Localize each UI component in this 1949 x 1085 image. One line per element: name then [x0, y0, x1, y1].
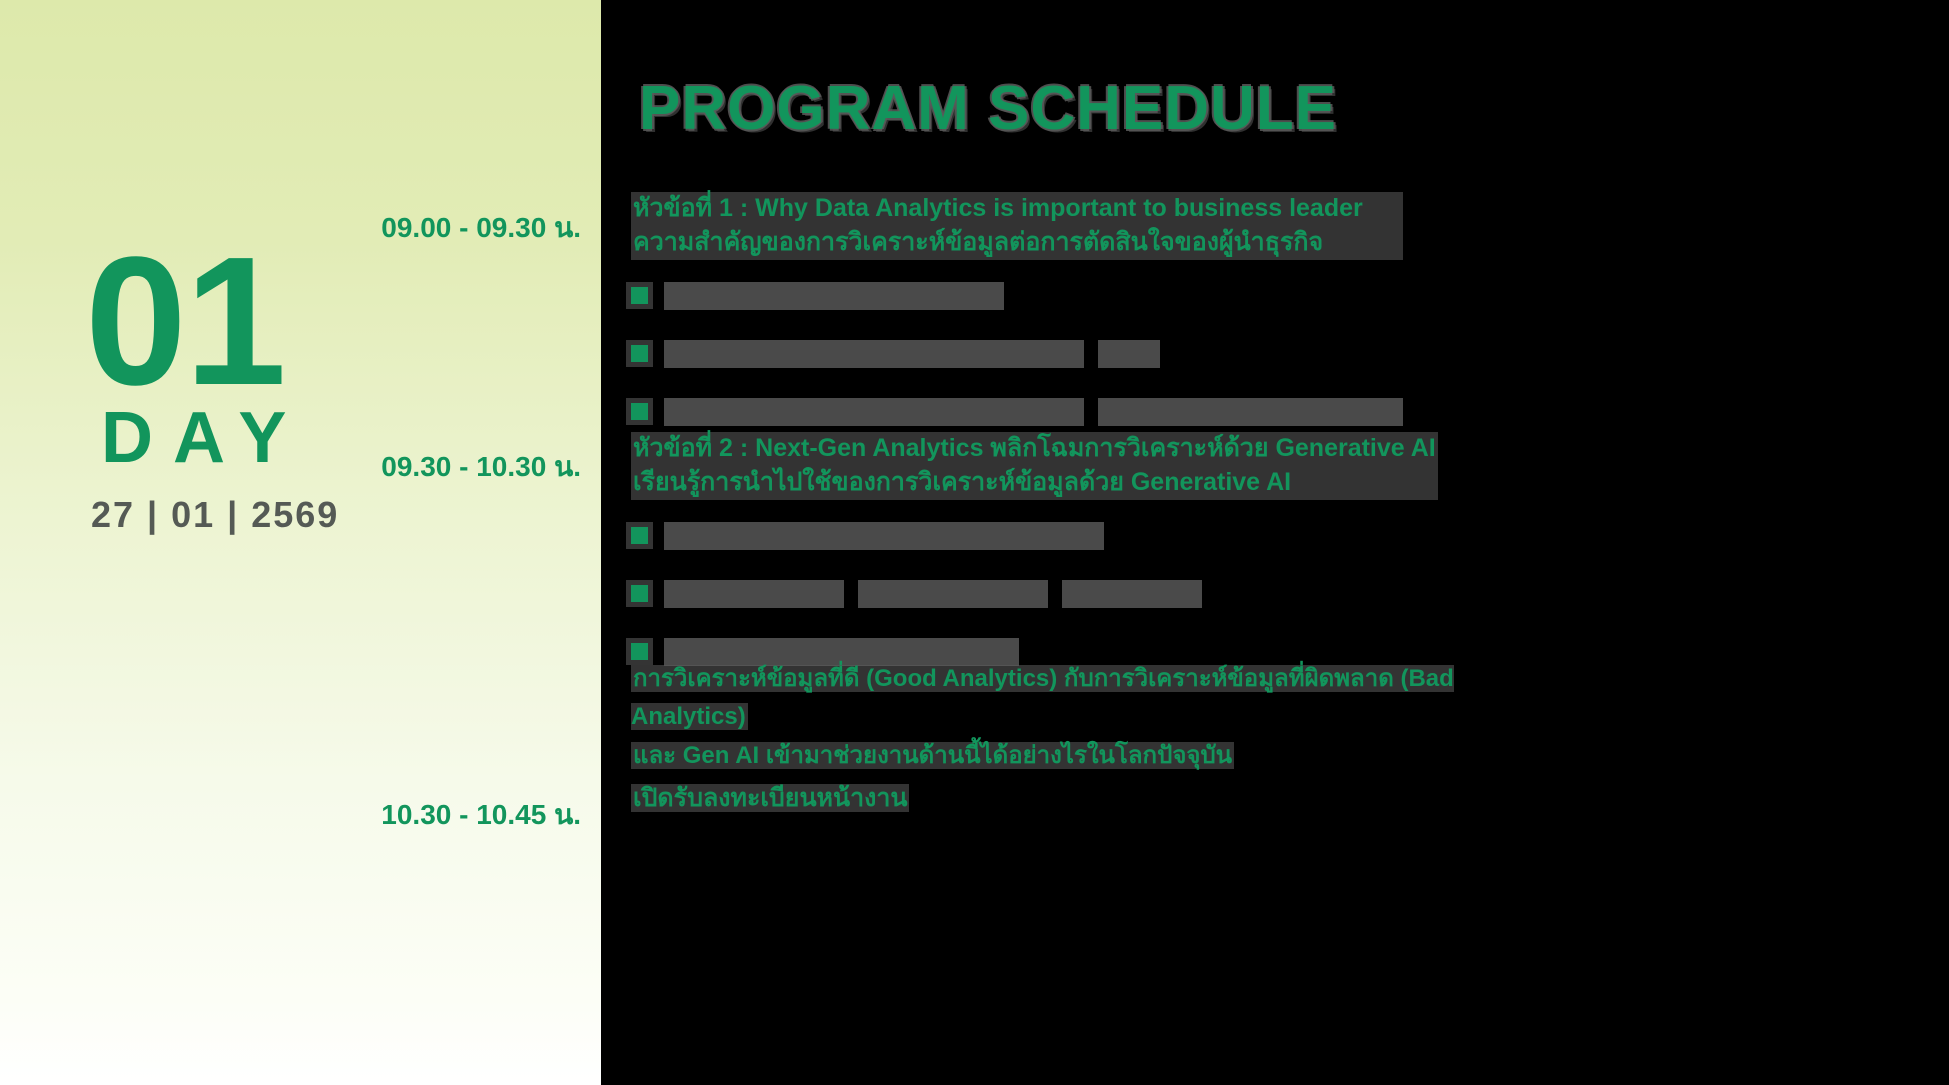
right-panel: PROGRAM SCHEDULE หัวข้อที่ 1 : Why Data … [601, 0, 1949, 1085]
bullet-square-icon [631, 527, 648, 544]
session-1-heading: หัวข้อที่ 1 : Why Data Analytics is impo… [631, 192, 1403, 260]
page-title: PROGRAM SCHEDULE [639, 78, 1337, 140]
session-2-bullets [631, 522, 1438, 666]
bullet-square-icon [631, 287, 648, 304]
list-item [631, 282, 1403, 310]
final-note: เปิดรับลงทะเบียนหน้างาน [631, 778, 909, 818]
time-slot-2: 09.30 - 10.30 น. [381, 445, 581, 489]
redacted-text [1062, 580, 1202, 608]
day-block: 01 DAY 27 | 01 | 2569 [85, 248, 330, 536]
left-panel: 01 DAY 27 | 01 | 2569 09.00 - 09.30 น. 0… [0, 0, 601, 1085]
session-2-heading: หัวข้อที่ 2 : Next-Gen Analytics พลิกโฉม… [631, 432, 1438, 500]
redacted-text [1098, 340, 1160, 368]
session-1-heading-line-1: หัวข้อที่ 1 : Why Data Analytics is impo… [631, 192, 1403, 226]
redacted-text [858, 580, 1048, 608]
bullet-square-icon [631, 345, 648, 362]
redacted-text [664, 398, 1084, 426]
session-2-heading-line-1: หัวข้อที่ 2 : Next-Gen Analytics พลิกโฉม… [631, 432, 1438, 466]
session-1-bullets [631, 282, 1403, 426]
closing-paragraph-line-2-wrap: และ Gen AI เข้ามาช่วยงานด้านนี้ได้อย่างไ… [631, 737, 1531, 775]
bullet-square-icon [631, 403, 648, 420]
closing-paragraph-line-1-wrap: การวิเคราะห์ข้อมูลที่ดี (Good Analytics)… [631, 660, 1531, 737]
list-item [631, 398, 1403, 426]
bullet-square-icon [631, 585, 648, 602]
redacted-text [664, 522, 1104, 550]
redacted-text [664, 580, 844, 608]
time-slot-1: 09.00 - 09.30 น. [381, 206, 581, 250]
list-item [631, 580, 1438, 608]
session-block-1: หัวข้อที่ 1 : Why Data Analytics is impo… [631, 192, 1403, 456]
session-1-heading-line-2: ความสำคัญของการวิเคราะห์ข้อมูลต่อการตัดส… [631, 226, 1403, 260]
redacted-text [664, 340, 1084, 368]
list-item [631, 340, 1403, 368]
closing-paragraph: การวิเคราะห์ข้อมูลที่ดี (Good Analytics)… [631, 660, 1531, 775]
final-note-text: เปิดรับลงทะเบียนหน้างาน [631, 784, 909, 812]
time-slot-3: 10.30 - 10.45 น. [381, 793, 581, 837]
session-block-2: หัวข้อที่ 2 : Next-Gen Analytics พลิกโฉม… [631, 432, 1438, 696]
redacted-text [664, 282, 1004, 310]
session-2-heading-line-2: เรียนรู้การนำไปใช้ของการวิเคราะห์ข้อมูลด… [631, 466, 1438, 500]
closing-paragraph-line-1: การวิเคราะห์ข้อมูลที่ดี (Good Analytics)… [631, 665, 1454, 730]
day-word-label: DAY [101, 402, 330, 474]
closing-paragraph-line-2: และ Gen AI เข้ามาช่วยงานด้านนี้ได้อย่างไ… [631, 742, 1234, 769]
list-item [631, 522, 1438, 550]
slide-canvas: 01 DAY 27 | 01 | 2569 09.00 - 09.30 น. 0… [0, 0, 1949, 1085]
day-number: 01 [85, 248, 330, 394]
bullet-square-icon [631, 643, 648, 660]
day-date: 27 | 01 | 2569 [91, 494, 330, 536]
redacted-text [1098, 398, 1403, 426]
